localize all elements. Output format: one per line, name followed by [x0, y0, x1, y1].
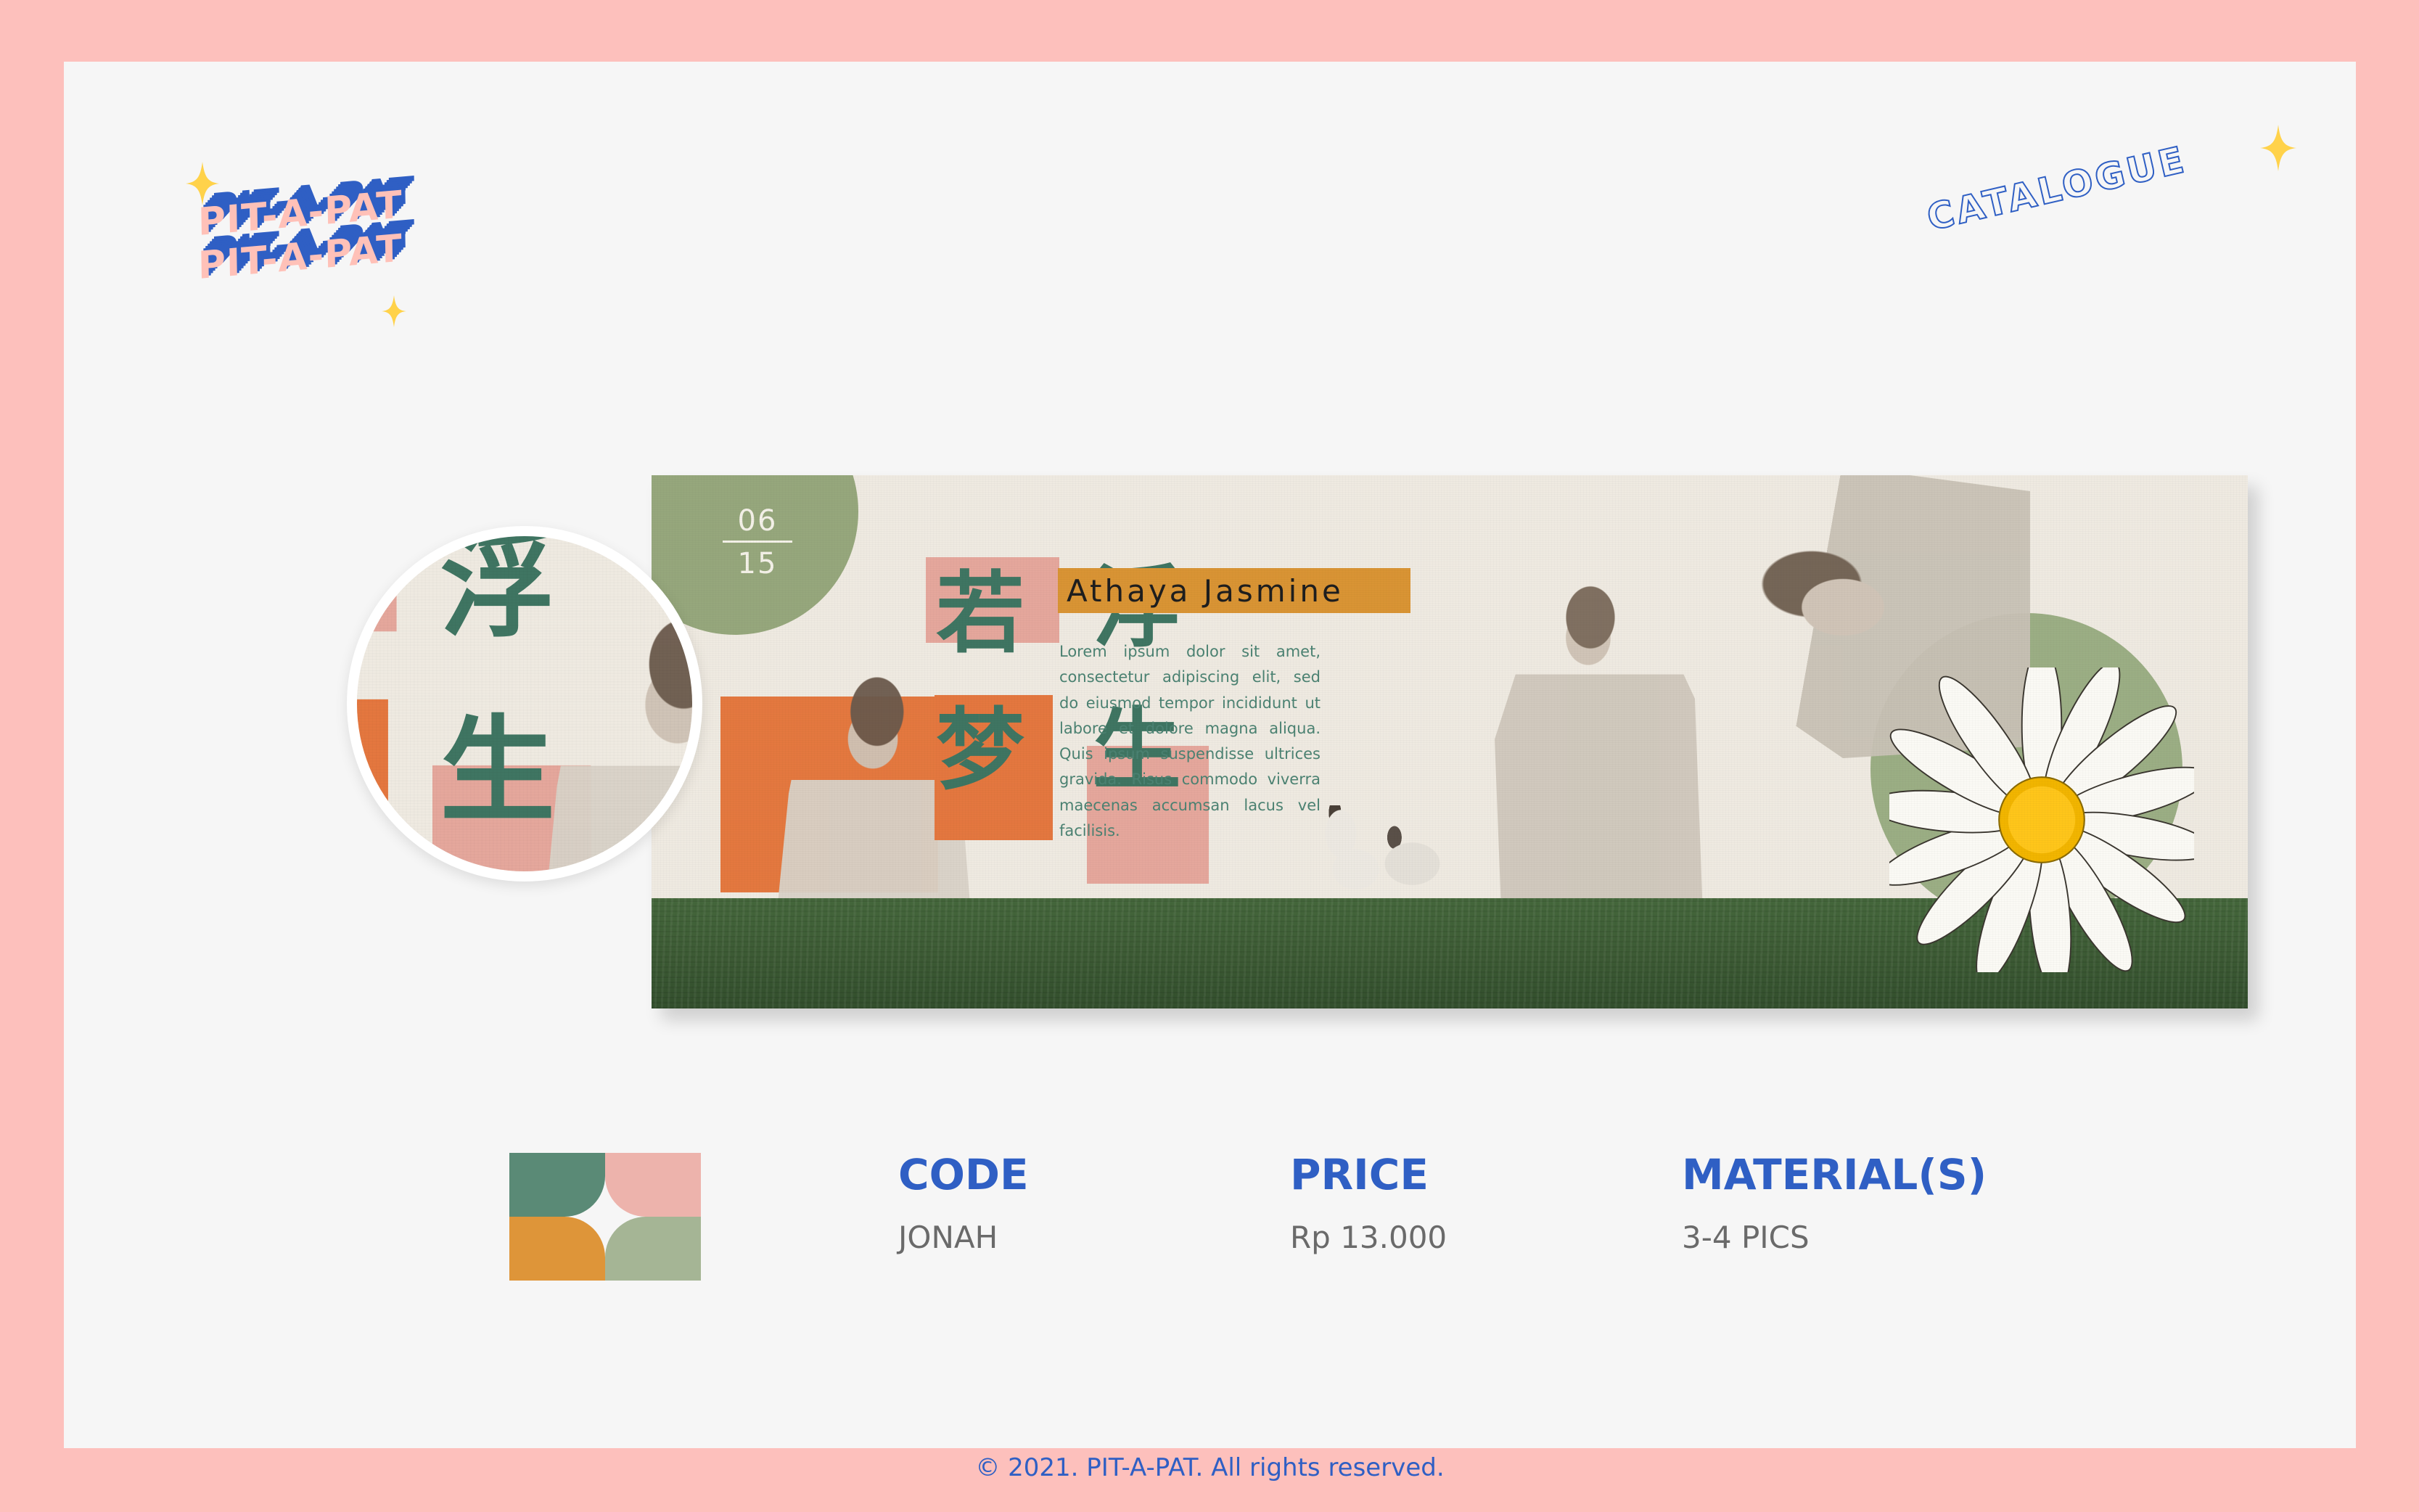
- chinese-char-meng: 梦: [347, 713, 351, 829]
- field-price-value: Rp 13.000: [1290, 1220, 1447, 1255]
- banner-date: 06 15: [723, 504, 792, 580]
- field-materials-value: 3-4 PICS: [1682, 1220, 1987, 1255]
- daisy-flower-icon: [1889, 667, 2194, 972]
- swatch-quadrant-sage: [605, 1217, 701, 1281]
- sparkle-icon: [382, 295, 406, 327]
- sparkle-icon: [2260, 125, 2296, 171]
- zoom-detail-content: 若 梦 浮 生 Aya!: [347, 526, 702, 882]
- catalogue-title-block: CATALOGUE: [1928, 145, 2291, 276]
- chinese-char-ruo: 若: [936, 570, 1024, 658]
- chinese-char-ruo: 若: [347, 536, 351, 652]
- date-divider: [723, 541, 792, 543]
- swatch-quadrant-pink: [605, 1153, 701, 1217]
- field-materials: MATERIAL(S) 3-4 PICS: [1682, 1150, 1987, 1255]
- field-code: CODE JONAH: [898, 1150, 1029, 1255]
- date-day: 15: [723, 547, 792, 580]
- pink-block-1: [347, 526, 397, 631]
- swatch-quadrant-green: [509, 1153, 605, 1217]
- banner-body-text: Lorem ipsum dolor sit amet, consectetur …: [1059, 639, 1321, 844]
- catalogue-label: CATALOGUE: [1923, 139, 2190, 239]
- catalogue-card: PIT-A-PAT PIT-A-PAT CATALOGUE 若 梦 浮: [64, 62, 2356, 1448]
- zoom-detail-circle[interactable]: 若 梦 浮 生 Aya!: [347, 526, 702, 882]
- banner-title-band: Athaya Jasmine: [1058, 568, 1410, 613]
- color-swatch: [509, 1153, 701, 1281]
- chinese-char-meng: 梦: [936, 706, 1024, 794]
- brand-logo[interactable]: PIT-A-PAT PIT-A-PAT: [180, 163, 485, 308]
- chinese-char-fu: 浮: [440, 529, 555, 644]
- field-price: PRICE Rp 13.000: [1290, 1150, 1447, 1255]
- banner-title: Athaya Jasmine: [1067, 573, 1344, 609]
- orange-block-1: [347, 699, 388, 882]
- field-materials-label: MATERIAL(S): [1682, 1150, 1987, 1199]
- footer-copyright: © 2021. PIT-A-PAT. All rights reserved.: [64, 1453, 2356, 1482]
- banner-artwork: 若 梦 浮 生 06 15 Athaya Jasmine Lorem ipsum…: [652, 475, 2248, 1008]
- field-code-value: JONAH: [898, 1220, 1029, 1255]
- swatch-quadrant-orange: [509, 1217, 605, 1281]
- field-price-label: PRICE: [1290, 1150, 1447, 1199]
- rabbits-photo: [1308, 805, 1457, 900]
- field-code-label: CODE: [898, 1150, 1029, 1199]
- product-banner[interactable]: 若 梦 浮 生 06 15 Athaya Jasmine Lorem ipsum…: [652, 475, 2248, 1008]
- page-background: PIT-A-PAT PIT-A-PAT CATALOGUE 若 梦 浮: [0, 0, 2419, 1512]
- date-month: 06: [723, 504, 792, 538]
- chinese-char-sheng: 生: [440, 713, 555, 829]
